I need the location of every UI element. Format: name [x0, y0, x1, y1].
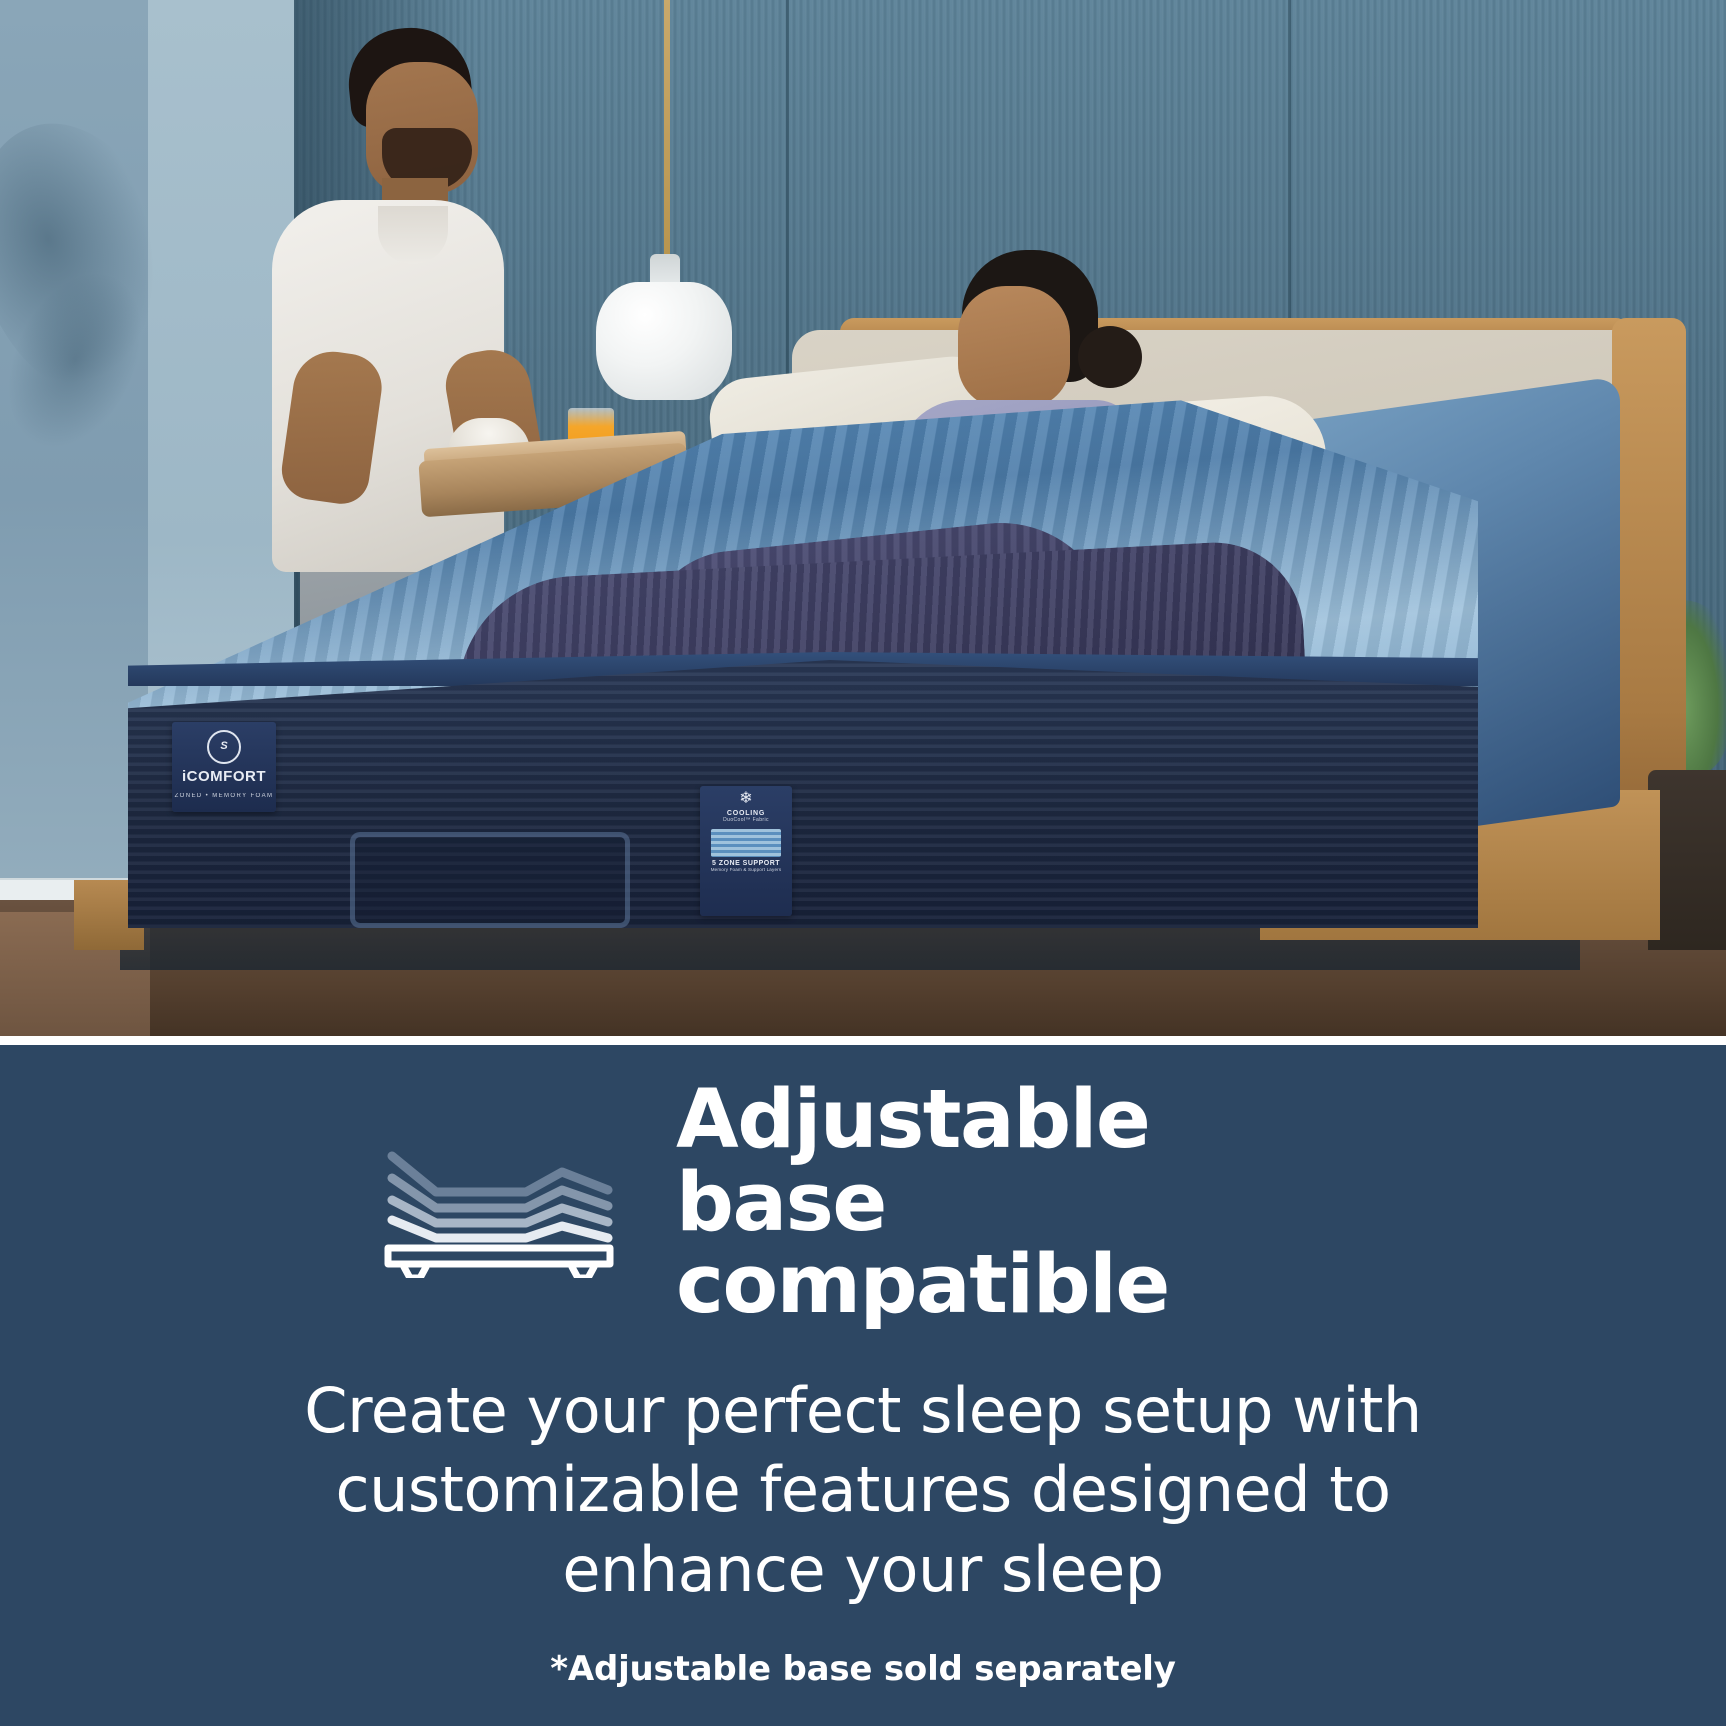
- woman-face: [958, 286, 1070, 408]
- footnote-disclaimer: *Adjustable base sold separately: [163, 1649, 1563, 1689]
- headline-line-1: Adjustable base: [676, 1073, 1149, 1250]
- snowflake-icon: ❄: [700, 790, 792, 808]
- woman-hair-bun: [1078, 326, 1142, 388]
- headline-row: Adjustable base compatible: [0, 1045, 1726, 1327]
- pendant-lamp-shade: [596, 282, 732, 400]
- page-title: Adjustable base compatible: [676, 1079, 1376, 1327]
- mattress-handle: [350, 832, 630, 928]
- adjustable-base-icon: [376, 1128, 624, 1278]
- subcopy-text: Create your perfect sleep setup with cus…: [238, 1371, 1488, 1609]
- message-panel: Adjustable base compatible Create your p…: [0, 1045, 1726, 1726]
- zone-support-title: 5 ZONE SUPPORT: [700, 860, 792, 867]
- zone-diagram-icon: [711, 829, 781, 857]
- serta-logo-mark: S: [207, 730, 241, 764]
- serta-icomfort-label: S iCOMFORT ZONED • MEMORY FOAM: [172, 722, 276, 812]
- headline-line-2: compatible: [676, 1238, 1169, 1332]
- pendant-lamp-cord: [664, 0, 670, 258]
- icomfort-model-sub: ZONED • MEMORY FOAM: [172, 793, 276, 799]
- cooling-zone-label: ❄ COOLING DuoCool™ Fabric 5 ZONE SUPPORT…: [700, 786, 792, 916]
- lifestyle-photo: S iCOMFORT ZONED • MEMORY FOAM ❄ COOLING…: [0, 0, 1726, 1040]
- mattress-side-panel: [128, 660, 1478, 928]
- panel-divider: [0, 1036, 1726, 1045]
- cooling-title: COOLING: [700, 810, 792, 817]
- icomfort-model-name: iCOMFORT: [172, 768, 276, 785]
- zone-support-subtitle: Memory Foam & Support Layers: [700, 867, 792, 872]
- cooling-subtitle: DuoCool™ Fabric: [700, 817, 792, 823]
- promo-card: S iCOMFORT ZONED • MEMORY FOAM ❄ COOLING…: [0, 0, 1726, 1726]
